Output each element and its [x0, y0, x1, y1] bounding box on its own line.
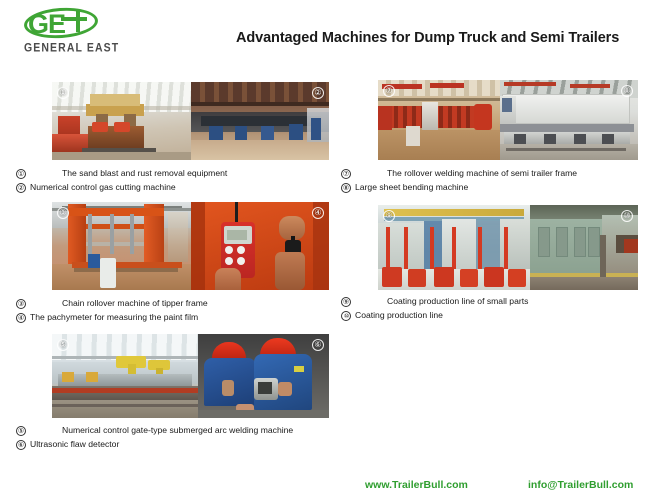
caption-row-7: ⑦ The rollover welding machine of semi t… — [341, 168, 577, 182]
caption-row-1: ① The sand blast and rust removal equipm… — [16, 168, 227, 182]
caption-number-10: ⑩ — [341, 311, 351, 321]
caption-group-bottom-left: ⑤ Numerical control gate-type submerged … — [16, 425, 293, 453]
caption-row-2: ② Numerical control gas cutting machine — [16, 182, 227, 196]
photo-badge-9: ⑨ — [383, 210, 395, 222]
caption-number-1: ① — [16, 169, 26, 179]
caption-text-4: The pachymeter for measuring the paint f… — [30, 312, 198, 322]
footer-website-link[interactable]: www.TrailerBull.com — [365, 479, 468, 491]
caption-text-1: The sand blast and rust removal equipmen… — [62, 168, 227, 178]
caption-text-6: Ultrasonic flaw detector — [30, 439, 119, 449]
caption-group-mid-left: ③ Chain rollover machine of tipper frame… — [16, 298, 208, 326]
caption-row-8: ⑧ Large sheet bending machine — [341, 182, 577, 196]
caption-group-top-right: ⑦ The rollover welding machine of semi t… — [341, 168, 577, 196]
caption-group-mid-right: ⑨ Coating production line of small parts… — [341, 296, 528, 324]
caption-text-9: Coating production line of small parts — [387, 296, 528, 306]
photo-pachymeter-paint-film: ④ — [191, 202, 329, 290]
page-title: Advantaged Machines for Dump Truck and S… — [236, 30, 646, 46]
caption-row-9: ⑨ Coating production line of small parts — [341, 296, 528, 310]
caption-number-3: ③ — [16, 299, 26, 309]
panel-top-right: ⑦ ⑧ — [378, 80, 638, 160]
panel-top-left: ① ② — [52, 82, 329, 160]
photo-arc-welding-machine: ⑤ — [52, 334, 198, 418]
photo-badge-4: ④ — [312, 207, 324, 219]
photo-coating-production-line: ⑩ — [530, 205, 638, 290]
photo-sand-blast-equipment: ① — [52, 82, 191, 160]
photo-ultrasonic-flaw-detector: ⑥ — [198, 334, 329, 418]
photo-rollover-welding-machine: ⑦ — [378, 80, 500, 160]
photo-badge-2: ② — [312, 87, 324, 99]
panel-mid-right: ⑨ ⑩ — [378, 205, 638, 290]
photo-badge-1: ① — [57, 87, 69, 99]
photo-badge-10: ⑩ — [621, 210, 633, 222]
caption-row-5: ⑤ Numerical control gate-type submerged … — [16, 425, 293, 439]
caption-number-6: ⑥ — [16, 440, 26, 450]
caption-number-9: ⑨ — [341, 297, 351, 307]
caption-row-6: ⑥ Ultrasonic flaw detector — [16, 439, 293, 453]
caption-number-7: ⑦ — [341, 169, 351, 179]
caption-number-8: ⑧ — [341, 183, 351, 193]
caption-number-2: ② — [16, 183, 26, 193]
photo-badge-8: ⑧ — [621, 85, 633, 97]
photo-chain-rollover-machine: ③ — [52, 202, 191, 290]
photo-badge-7: ⑦ — [383, 85, 395, 97]
caption-text-8: Large sheet bending machine — [355, 182, 468, 192]
logo-bar-icon — [61, 17, 87, 21]
footer-email-link[interactable]: info@TrailerBull.com — [528, 479, 633, 491]
photo-sheet-bending-machine: ⑧ — [500, 80, 638, 160]
slide-page: GE GENERAL EAST Advantaged Machines for … — [0, 0, 650, 500]
caption-row-10: ⑩ Coating production line — [341, 310, 528, 324]
caption-text-3: Chain rollover machine of tipper frame — [62, 298, 208, 308]
caption-group-top-left: ① The sand blast and rust removal equipm… — [16, 168, 227, 196]
caption-number-5: ⑤ — [16, 426, 26, 436]
logo-mark: GE — [14, 8, 110, 42]
logo-letters: GE — [28, 10, 65, 38]
caption-row-4: ④ The pachymeter for measuring the paint… — [16, 312, 208, 326]
photo-badge-5: ⑤ — [57, 339, 69, 351]
caption-text-7: The rollover welding machine of semi tra… — [387, 168, 577, 178]
panel-bottom-left: ⑤ ⑥ — [52, 334, 329, 418]
logo-bar-vertical-icon — [76, 10, 80, 32]
photo-gas-cutting-machine: ② — [191, 82, 329, 160]
company-logo: GE GENERAL EAST — [14, 8, 122, 58]
photo-badge-3: ③ — [57, 207, 69, 219]
photo-badge-6: ⑥ — [312, 339, 324, 351]
photo-coating-line-small-parts: ⑨ — [378, 205, 530, 290]
caption-number-4: ④ — [16, 313, 26, 323]
panel-mid-left: ③ ④ — [52, 202, 329, 290]
caption-text-10: Coating production line — [355, 310, 443, 320]
caption-text-5: Numerical control gate-type submerged ar… — [62, 425, 293, 435]
caption-row-3: ③ Chain rollover machine of tipper frame — [16, 298, 208, 312]
logo-company-name: GENERAL EAST — [24, 41, 119, 55]
caption-text-2: Numerical control gas cutting machine — [30, 182, 176, 192]
